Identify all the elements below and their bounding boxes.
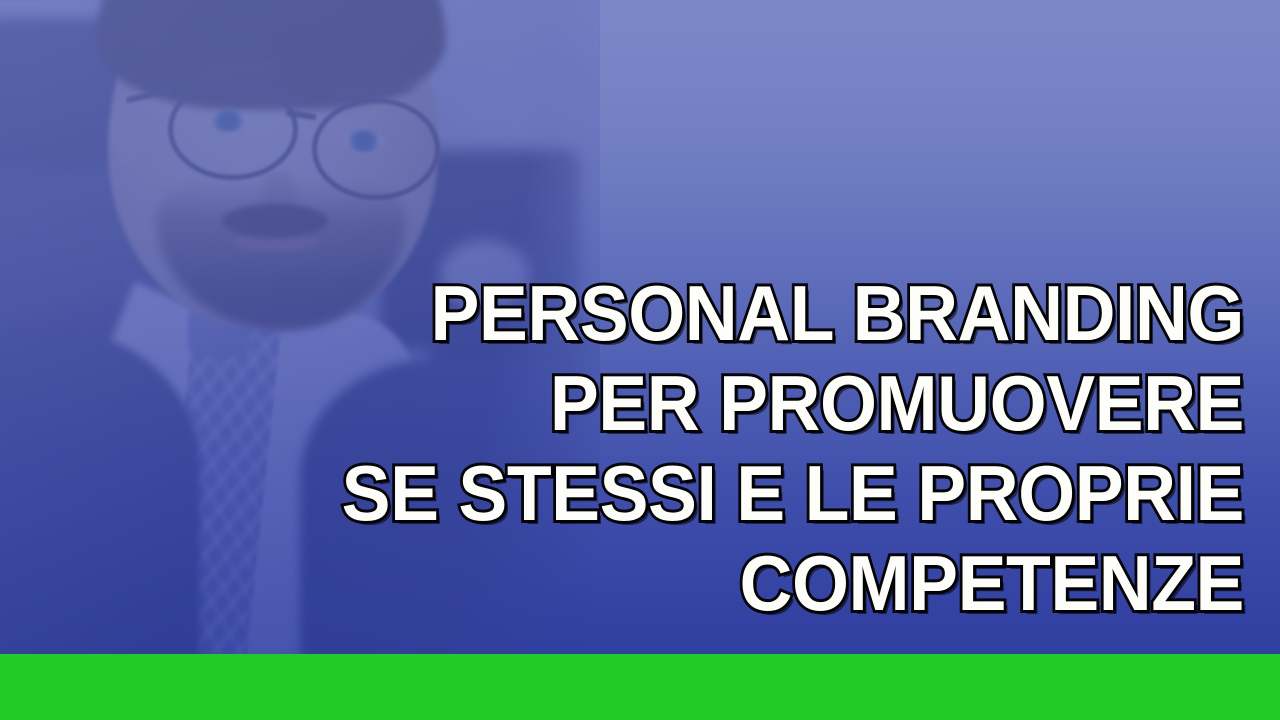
headline-line-1: PERSONAL BRANDING: [75, 268, 1244, 358]
video-thumbnail: PERSONAL BRANDING PER PROMUOVERE SE STES…: [0, 0, 1280, 720]
headline-line-3: SE STESSI E LE PROPRIE: [75, 448, 1244, 538]
headline-line-2: PER PROMUOVERE: [75, 358, 1244, 448]
headline-line-4: COMPETENZE: [75, 538, 1244, 628]
bottom-green-bar: [0, 654, 1280, 720]
headline: PERSONAL BRANDING PER PROMUOVERE SE STES…: [0, 268, 1244, 628]
